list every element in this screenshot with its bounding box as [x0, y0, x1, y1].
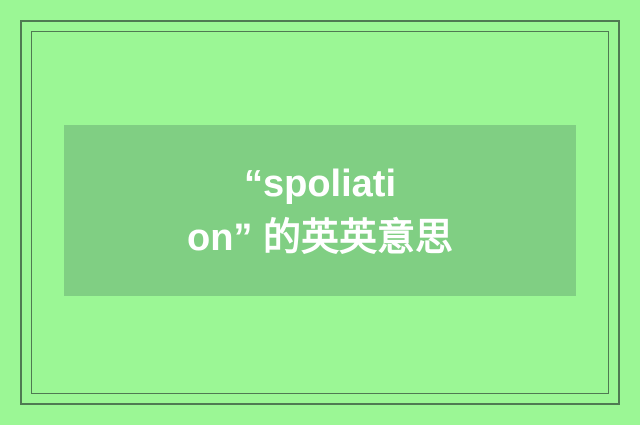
title-band: “spoliati on” 的英英意思: [64, 125, 576, 296]
title-line-1: “spoliati: [72, 157, 568, 211]
title-line-2: on” 的英英意思: [72, 211, 568, 265]
poster-canvas: “spoliati on” 的英英意思: [0, 0, 640, 425]
title-block: “spoliati on” 的英英意思: [64, 157, 576, 265]
